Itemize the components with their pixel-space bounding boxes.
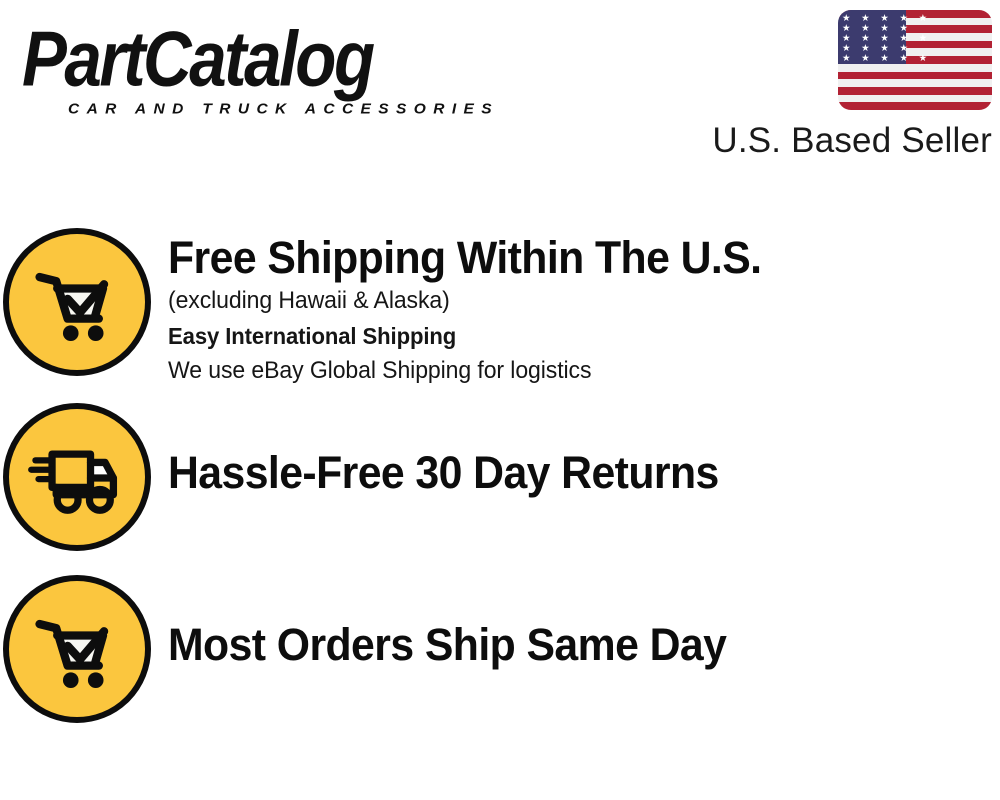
brand-logo[interactable]: PartCatalog CAR AND TRUCK ACCESSORIES	[22, 18, 492, 118]
feature-icon-wrapper	[0, 228, 154, 376]
feature-title: Most Orders Ship Same Day	[168, 619, 958, 671]
seller-badge-label: U.S. Based Seller	[702, 122, 992, 160]
feature-text: Most Orders Ship Same Day	[154, 575, 1000, 671]
feature-title: Hassle-Free 30 Day Returns	[168, 447, 958, 499]
feature-row: Most Orders Ship Same Day	[0, 575, 1000, 747]
seller-badge: ★ ★ ★ ★ ★ ★ ★ ★ ★ ★ ★ ★ ★ ★ ★ ★ ★ ★ ★ ★ …	[702, 10, 992, 160]
feature-list: Free Shipping Within The U.S. (excluding…	[0, 228, 1000, 747]
page-header: PartCatalog CAR AND TRUCK ACCESSORIES ★ …	[0, 0, 1000, 175]
feature-icon-wrapper	[0, 575, 154, 723]
shopping-cart-check-icon	[3, 228, 151, 376]
brand-wordmark: PartCatalog	[22, 18, 487, 100]
feature-row: Hassle-Free 30 Day Returns	[0, 403, 1000, 575]
feature-text: Hassle-Free 30 Day Returns	[154, 403, 1000, 499]
delivery-truck-icon	[3, 403, 151, 551]
feature-title: Free Shipping Within The U.S.	[168, 232, 958, 284]
brand-tagline: CAR AND TRUCK ACCESSORIES	[68, 101, 499, 118]
feature-sub-heading: Easy International Shipping	[168, 318, 967, 354]
feature-sub-note: (excluding Hawaii & Alaska)	[168, 284, 967, 318]
feature-sub-detail: We use eBay Global Shipping for logistic…	[168, 354, 967, 388]
feature-text: Free Shipping Within The U.S. (excluding…	[154, 228, 1000, 388]
shopping-cart-check-icon	[3, 575, 151, 723]
flag-stars: ★ ★ ★ ★ ★ ★ ★ ★ ★ ★ ★ ★ ★ ★ ★ ★ ★ ★ ★ ★ …	[838, 10, 906, 64]
feature-icon-wrapper	[0, 403, 154, 551]
flag-star-row: ★ ★ ★ ★ ★	[838, 54, 906, 64]
us-flag-icon: ★ ★ ★ ★ ★ ★ ★ ★ ★ ★ ★ ★ ★ ★ ★ ★ ★ ★ ★ ★ …	[838, 10, 992, 110]
feature-row: Free Shipping Within The U.S. (excluding…	[0, 228, 1000, 403]
